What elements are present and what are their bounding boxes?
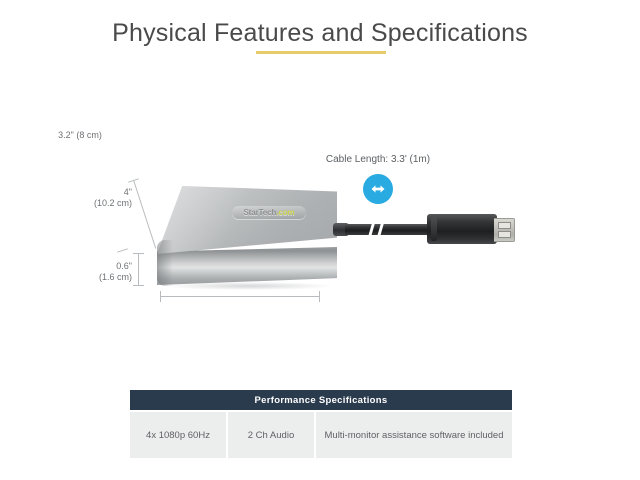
dimension-height-label: 4" (10.2 cm) — [76, 187, 132, 209]
brand-logo: StarTech.com — [232, 206, 306, 219]
spec-cell-video: 4x 1080p 60Hz — [130, 412, 226, 458]
title-accent-underline — [256, 51, 386, 54]
page-title: Physical Features and Specifications — [0, 19, 640, 48]
dimension-height-cap-bottom — [117, 248, 128, 252]
dimension-width-label: 3.2" (8 cm) — [0, 130, 160, 140]
brand-logo-suffix: .com — [276, 208, 294, 217]
spec-cell-software: Multi-monitor assistance software includ… — [316, 412, 512, 458]
device-top-face — [157, 186, 337, 254]
spec-table-header: Performance Specifications — [130, 390, 512, 410]
brand-logo-text: StarTech — [243, 208, 276, 217]
usb-a-connector-shell — [427, 214, 497, 244]
spec-table-body: 4x 1080p 60Hz 2 Ch Audio Multi-monitor a… — [130, 412, 512, 458]
double-arrow-horizontal-icon — [363, 174, 393, 204]
dimension-depth-cap-top — [133, 253, 144, 254]
dimension-height-metric: (10.2 cm) — [76, 198, 132, 209]
dimension-width-leader-line — [160, 296, 320, 297]
dimension-width-cap-left — [160, 291, 161, 302]
performance-specifications-table: Performance Specifications 4x 1080p 60Hz… — [130, 390, 512, 458]
dimension-depth-imperial: 0.6" — [76, 261, 132, 272]
cable-length-badge — [363, 174, 393, 204]
dimension-width-cap-right — [319, 291, 320, 302]
dimension-height-imperial: 4" — [76, 187, 132, 198]
dimension-depth-label: 0.6" (1.6 cm) — [76, 261, 132, 283]
dimension-height-leader-line — [133, 180, 156, 249]
dimension-depth-cap-bottom — [133, 285, 144, 286]
spec-cell-audio: 2 Ch Audio — [228, 412, 314, 458]
dimension-depth-metric: (1.6 cm) — [76, 272, 132, 283]
usb-a-connector-tip — [494, 218, 515, 242]
product-illustration: 4" (10.2 cm) 0.6" (1.6 cm) StarTech.com … — [0, 130, 640, 330]
cable-run — [345, 224, 431, 235]
device-front-face — [157, 247, 337, 285]
dimension-depth-leader-line — [138, 253, 139, 286]
cable-length-label: Cable Length: 3.3' (1m) — [258, 154, 498, 165]
